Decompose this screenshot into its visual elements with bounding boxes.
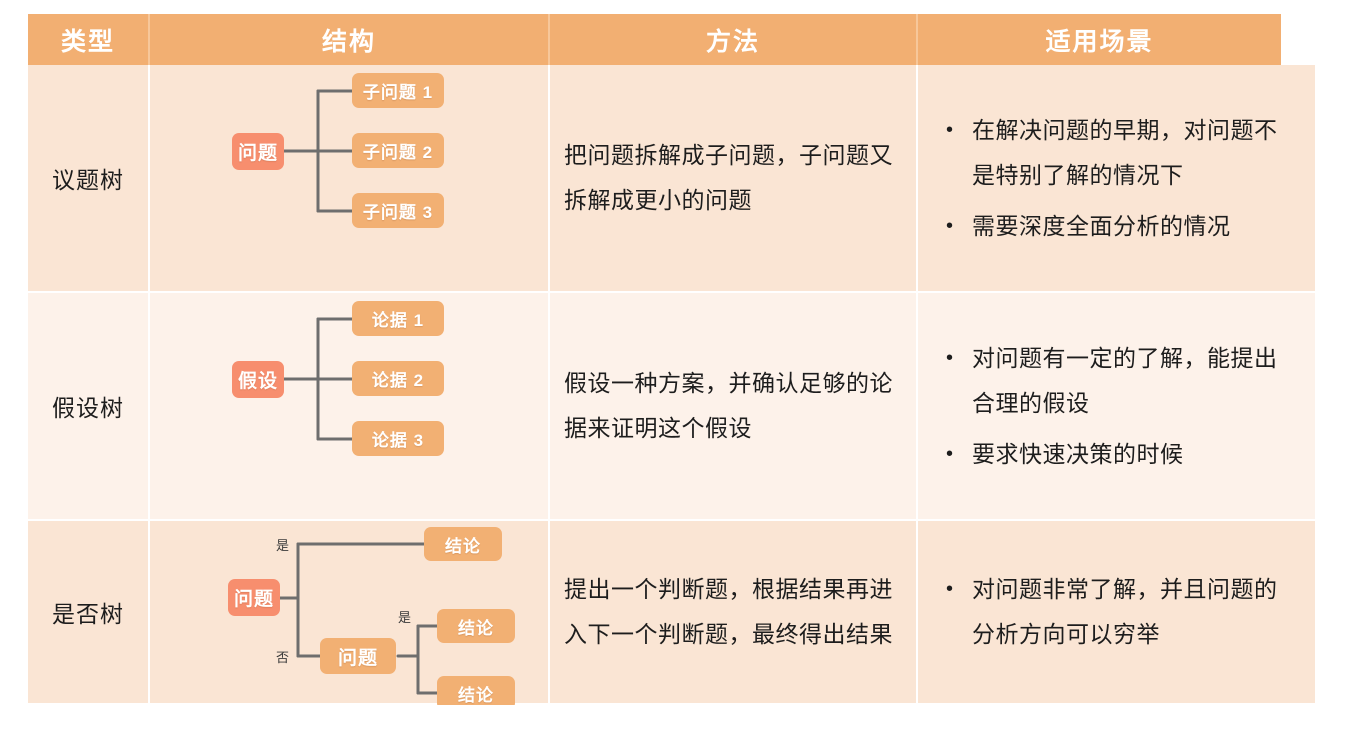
- table-row: 是否树: [28, 521, 1315, 705]
- row-structure-cell: 假设 论据 1 论据 2 论据 3: [150, 293, 550, 519]
- row-method-cell: 假设一种方案，并确认足够的论据来证明这个假设: [550, 293, 918, 519]
- row-type-cell: 是否树: [28, 521, 150, 703]
- column-header-method: 方法: [550, 14, 918, 65]
- hypothesis-tree-diagram: 假设 论据 1 论据 2 论据 3: [150, 293, 550, 519]
- table-row: 假设树 假设: [28, 293, 1315, 521]
- issue-tree-connectors: [150, 65, 550, 291]
- bullet-icon: •: [946, 108, 954, 153]
- column-header-struct: 结构: [150, 14, 550, 65]
- row-type-label: 是否树: [52, 595, 124, 629]
- row-structure-cell: 问题 是 否 结论 问题 是 结论 结论: [150, 521, 550, 703]
- list-item: • 需要深度全面分析的情况: [942, 204, 1295, 249]
- scenario-list: • 对问题非常了解，并且问题的分析方向可以穷举: [918, 567, 1315, 657]
- row-method-cell: 把问题拆解成子问题，子问题又拆解成更小的问题: [550, 65, 918, 291]
- edge-label-no: 否: [276, 647, 289, 666]
- list-item: • 对问题有一定的了解，能提出合理的假设: [942, 336, 1295, 426]
- tree-node-sub-yes-result: 结论: [437, 609, 515, 643]
- scenario-text: 对问题非常了解，并且问题的分析方向可以穷举: [972, 576, 1278, 647]
- tree-node-child-3: 子问题 3: [352, 193, 444, 228]
- row-method-text: 把问题拆解成子问题，子问题又拆解成更小的问题: [550, 133, 916, 223]
- row-type-cell: 假设树: [28, 293, 150, 519]
- tree-node-sub-no-result: 结论: [437, 676, 515, 705]
- bullet-icon: •: [946, 336, 954, 381]
- list-item: • 在解决问题的早期，对问题不是特别了解的情况下: [942, 108, 1295, 198]
- scenario-text: 要求快速决策的时候: [972, 441, 1184, 467]
- list-item: • 对问题非常了解，并且问题的分析方向可以穷举: [942, 567, 1295, 657]
- bullet-icon: •: [946, 432, 954, 477]
- tree-node-child-1: 子问题 1: [352, 73, 444, 108]
- hypothesis-tree-connectors: [150, 293, 550, 519]
- decision-tree-diagram: 问题 是 否 结论 问题 是 结论 结论: [150, 521, 550, 703]
- tree-node-child-1: 论据 1: [352, 301, 444, 336]
- tree-node-root: 假设: [232, 361, 284, 398]
- tree-node-child-2: 子问题 2: [352, 133, 444, 168]
- row-type-label: 议题树: [52, 161, 124, 195]
- scenario-list: • 对问题有一定的了解，能提出合理的假设 • 要求快速决策的时候: [918, 336, 1315, 477]
- bullet-icon: •: [946, 204, 954, 249]
- scenario-text: 需要深度全面分析的情况: [972, 213, 1231, 239]
- scenario-text: 对问题有一定的了解，能提出合理的假设: [972, 345, 1278, 416]
- column-header-type: 类型: [28, 14, 150, 65]
- tree-node-child-2: 论据 2: [352, 361, 444, 396]
- issue-tree-diagram: 问题 子问题 1 子问题 2 子问题 3: [150, 65, 550, 291]
- tree-node-child-3: 论据 3: [352, 421, 444, 456]
- edge-label-sub-yes: 是: [398, 607, 411, 626]
- tree-node-yes-result: 结论: [424, 527, 502, 561]
- scenario-text: 在解决问题的早期，对问题不是特别了解的情况下: [972, 117, 1278, 188]
- comparison-table: 类型 结构 方法 适用场景 议题树: [28, 14, 1315, 705]
- row-type-label: 假设树: [52, 389, 124, 423]
- tree-node-root: 问题: [228, 579, 280, 616]
- row-scenario-cell: • 对问题非常了解，并且问题的分析方向可以穷举: [918, 521, 1315, 703]
- edge-label-yes: 是: [276, 535, 289, 554]
- column-header-scene: 适用场景: [918, 14, 1281, 65]
- page-root: 类型 结构 方法 适用场景 议题树: [0, 0, 1353, 730]
- table-row: 议题树 问题: [28, 65, 1315, 293]
- row-method-text: 假设一种方案，并确认足够的论据来证明这个假设: [550, 361, 916, 451]
- row-type-cell: 议题树: [28, 65, 150, 291]
- tree-node-root: 问题: [232, 133, 284, 170]
- row-scenario-cell: • 在解决问题的早期，对问题不是特别了解的情况下 • 需要深度全面分析的情况: [918, 65, 1315, 291]
- row-scenario-cell: • 对问题有一定的了解，能提出合理的假设 • 要求快速决策的时候: [918, 293, 1315, 519]
- row-structure-cell: 问题 子问题 1 子问题 2 子问题 3: [150, 65, 550, 291]
- row-method-cell: 提出一个判断题，根据结果再进入下一个判断题，最终得出结果: [550, 521, 918, 703]
- tree-node-sub-question: 问题: [320, 638, 396, 674]
- bullet-icon: •: [946, 567, 954, 612]
- table-header-row: 类型 结构 方法 适用场景: [28, 14, 1281, 65]
- scenario-list: • 在解决问题的早期，对问题不是特别了解的情况下 • 需要深度全面分析的情况: [918, 108, 1315, 249]
- list-item: • 要求快速决策的时候: [942, 432, 1295, 477]
- table-body: 议题树 问题: [28, 65, 1315, 705]
- row-method-text: 提出一个判断题，根据结果再进入下一个判断题，最终得出结果: [550, 567, 916, 657]
